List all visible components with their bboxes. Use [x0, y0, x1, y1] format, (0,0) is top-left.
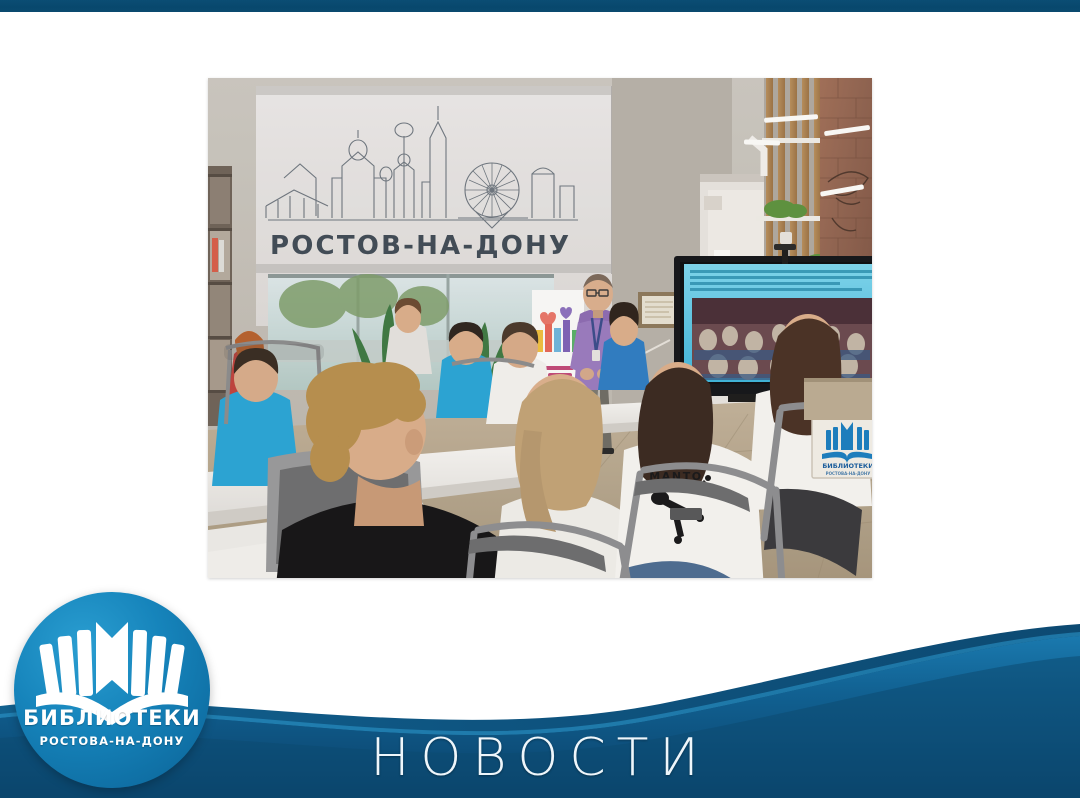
logo-subtitle: РОСТОВА-НА-ДОНУ [14, 734, 210, 748]
logo-title: БИБЛИОТЕКИ [14, 706, 210, 730]
slide-root: Группа молодых людей в библиотеке слушае… [0, 0, 1080, 798]
library-logo-badge: БИБЛИОТЕКИ РОСТОВА-НА-ДОНУ [14, 592, 210, 788]
top-accent-strip [0, 0, 1080, 12]
news-photo: Группа молодых людей в библиотеке слушае… [208, 78, 872, 578]
open-book-icon [14, 592, 210, 788]
